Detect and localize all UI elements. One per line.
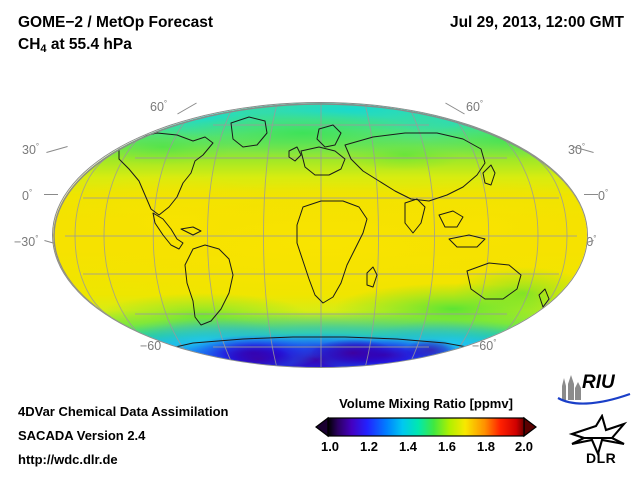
colorbar-tick-5: 1.8 — [477, 439, 495, 454]
lat-label-left-30: 30° — [22, 142, 39, 157]
colorbar-title: Volume Mixing Ratio [ppmv] — [312, 396, 540, 411]
colorbar-tick-6: 2.0 — [515, 439, 533, 454]
mollweide-projection-globe — [52, 102, 588, 368]
colorbar-extend-left — [316, 418, 328, 436]
footer-credits: 4DVar Chemical Data Assimilation SACADA … — [18, 400, 229, 472]
colorbar-tick-4: 1.6 — [438, 439, 456, 454]
colorbar-tick-2: 1.2 — [360, 439, 378, 454]
page-subtitle: CH4 at 55.4 hPa — [18, 34, 213, 60]
lat-label-left-0: 0° — [22, 188, 32, 203]
footer-line-1: 4DVar Chemical Data Assimilation — [18, 400, 229, 424]
riu-logo-text: RIU — [582, 372, 615, 394]
page-title: GOME−2 / MetOp Forecast — [18, 12, 213, 34]
riu-logo: RIU — [556, 374, 632, 408]
lat-label-left-m30: −30° — [14, 234, 38, 249]
map-area: 0° 30° 60° −30° −60° 0° 30° 60° −30° −60… — [0, 88, 640, 388]
date-stamp: Jul 29, 2013, 12:00 GMT — [450, 12, 624, 34]
globe-wrapper — [52, 102, 588, 368]
footer-line-3: http://wdc.dlr.de — [18, 448, 229, 472]
colorbar-extend-right — [524, 418, 536, 436]
subtitle-level: at 55.4 hPa — [47, 36, 132, 53]
colorbar-tick-labels: 1.0 1.2 1.4 1.6 1.8 2.0 — [312, 439, 540, 457]
lat-label-right-0: 0° — [598, 188, 608, 203]
dlr-logo: DLR — [566, 414, 628, 472]
dlr-logo-text: DLR — [586, 450, 616, 466]
graticule-parallels — [65, 125, 577, 347]
footer-line-2: SACADA Version 2.4 — [18, 424, 229, 448]
colorbar-tick-3: 1.4 — [399, 439, 417, 454]
colorbar-swatch — [312, 416, 540, 438]
subtitle-species: CH — [18, 36, 40, 53]
colorbar-tick-1: 1.0 — [321, 439, 339, 454]
methane-field-map — [53, 103, 588, 368]
figure-canvas: GOME−2 / MetOp Forecast CH4 at 55.4 hPa … — [0, 0, 640, 480]
title-block: GOME−2 / MetOp Forecast CH4 at 55.4 hPa — [18, 12, 213, 60]
colorbar-block: Volume Mixing Ratio [ppmv] — [312, 396, 540, 457]
colorbar-graphic — [312, 416, 540, 438]
